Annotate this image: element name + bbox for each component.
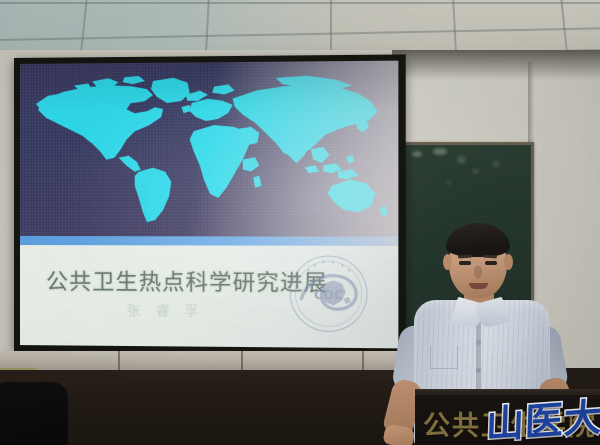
hair [446,223,510,257]
slide-map-region [20,61,398,237]
eye-right [485,261,497,265]
watermark-text: 山医大 [485,386,600,445]
shirt-pocket [430,346,458,369]
chair [0,382,68,445]
mouth [469,283,488,289]
eye-left [459,261,471,265]
svg-text:CDC: CDC [314,288,343,302]
world-map-icon [34,71,388,224]
wall-upper-shadow [392,50,600,80]
projection-screen: 公共卫生热点科学研究进展 张 睿 孚 CDC [14,54,406,354]
projected-slide: 公共卫生热点科学研究进展 张 睿 孚 CDC [20,61,398,349]
slide-title-region: 公共卫生热点科学研究进展 张 睿 孚 CDC [20,245,398,348]
lecture-photo-scene: 公共卫生热点科学研究进展 张 睿 孚 CDC [0,0,600,445]
nose [474,266,482,279]
ear-left [443,254,452,270]
china-cdc-logo-icon: CDC [286,252,371,336]
slide-presenter-name: 张 睿 孚 [127,301,204,322]
ear-right [504,254,513,270]
